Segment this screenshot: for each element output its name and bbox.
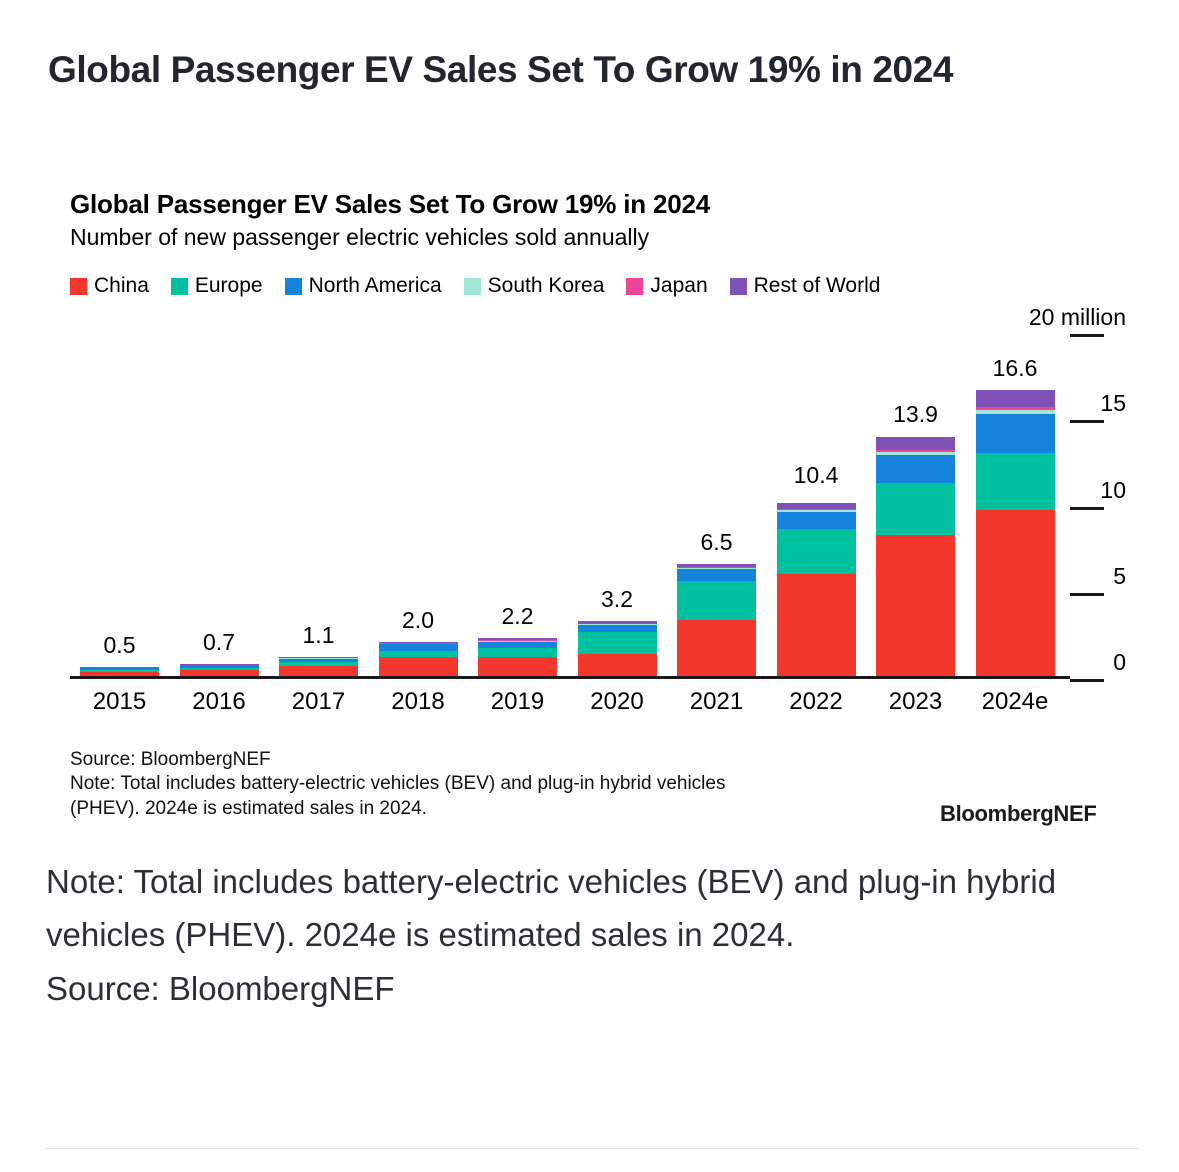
chart-title: Global Passenger EV Sales Set To Grow 19…: [70, 189, 710, 220]
y-tick-mark: [1070, 593, 1104, 596]
y-tick-mark: [1070, 679, 1104, 682]
bar-group[interactable]: 13.9: [876, 396, 955, 676]
y-tick-label: 0: [1068, 649, 1126, 676]
bar-group[interactable]: 2.2: [478, 598, 557, 676]
bar-value-label: 0.7: [203, 629, 235, 656]
y-axis: 05101520 million: [1068, 331, 1178, 682]
x-axis-baseline: [70, 676, 1070, 679]
bar-segment-europe: [777, 529, 856, 574]
stacked-bar[interactable]: [777, 497, 856, 676]
y-tick-label: 20 million: [978, 304, 1126, 331]
legend-item-north-america[interactable]: North America: [285, 274, 442, 298]
bar-segment-europe: [876, 483, 955, 535]
x-axis-label: 2022: [761, 688, 871, 716]
stacked-bar[interactable]: [677, 564, 756, 676]
legend-swatch-icon: [171, 278, 188, 295]
page-title: Global Passenger EV Sales Set To Grow 19…: [48, 48, 1138, 92]
x-axis-label: 2015: [65, 688, 175, 716]
bar-group[interactable]: 0.7: [180, 624, 259, 676]
article-caption: Note: Total includes battery-electric ve…: [46, 855, 1136, 1015]
bar-group[interactable]: 10.4: [777, 457, 856, 676]
legend-item-japan[interactable]: Japan: [626, 274, 707, 298]
legend-label: North America: [309, 274, 442, 298]
stacked-bar[interactable]: [80, 667, 159, 676]
chart-subtitle: Number of new passenger electric vehicle…: [70, 224, 649, 251]
x-axis-label: 2024e: [960, 688, 1070, 716]
x-axis-label: 2020: [562, 688, 672, 716]
y-tick-label: 5: [1068, 563, 1126, 590]
bar-value-label: 13.9: [893, 401, 938, 428]
caption-note: Note: Total includes battery-electric ve…: [46, 855, 1136, 962]
bar-group[interactable]: 0.5: [80, 627, 159, 676]
bar-segment-china: [677, 620, 756, 676]
x-axis-label: 2017: [264, 688, 374, 716]
stacked-bar[interactable]: [976, 390, 1055, 676]
bar-segment-europe: [677, 581, 756, 620]
chart-note-line: Note: Total includes battery-electric ve…: [70, 772, 880, 821]
legend-swatch-icon: [730, 278, 747, 295]
bottom-divider: [46, 1148, 1138, 1149]
x-axis-label: 2018: [363, 688, 473, 716]
bar-segment-rest-of-world: [976, 390, 1055, 407]
bar-segment-china: [478, 657, 557, 676]
stacked-bar[interactable]: [379, 642, 458, 677]
chart-card: Global Passenger EV Sales Set To Grow 19…: [0, 176, 1179, 836]
bar-segment-china: [777, 574, 856, 676]
x-axis: 2015201620172018201920202021202220232024…: [70, 688, 1065, 724]
legend-item-china[interactable]: China: [70, 274, 149, 298]
y-tick-label: 10: [1068, 477, 1126, 504]
legend-swatch-icon: [464, 278, 481, 295]
bar-segment-china: [976, 510, 1055, 676]
bar-segment-rest-of-world: [876, 437, 955, 449]
legend-swatch-icon: [285, 278, 302, 295]
bar-segment-north-america: [677, 569, 756, 581]
x-axis-label: 2016: [164, 688, 274, 716]
bar-value-label: 0.5: [104, 632, 136, 659]
bar-value-label: 16.6: [993, 355, 1038, 382]
chart-source-line: Source: BloombergNEF: [70, 748, 880, 772]
stacked-bar[interactable]: [578, 621, 657, 676]
bar-segment-china: [876, 535, 955, 676]
legend-label: Europe: [195, 274, 263, 298]
bar-value-label: 2.2: [502, 603, 534, 630]
legend-swatch-icon: [70, 278, 87, 295]
x-axis-label: 2019: [463, 688, 573, 716]
bar-value-label: 2.0: [402, 607, 434, 634]
legend-label: Rest of World: [754, 274, 881, 298]
bar-group[interactable]: 6.5: [677, 524, 756, 676]
bloombergnef-logo: BloombergNEF: [940, 801, 1097, 827]
legend-label: Japan: [650, 274, 707, 298]
bar-segment-north-america: [578, 625, 657, 632]
bar-value-label: 1.1: [303, 622, 335, 649]
bar-segment-north-america: [876, 455, 955, 483]
stacked-bar[interactable]: [279, 657, 358, 676]
bar-group[interactable]: 16.6: [976, 350, 1055, 676]
y-tick-mark: [1070, 420, 1104, 423]
bar-segment-north-america: [777, 512, 856, 529]
bar-group[interactable]: 1.1: [279, 617, 358, 676]
bar-segment-china: [279, 666, 358, 676]
legend-swatch-icon: [626, 278, 643, 295]
chart-footnote: Source: BloombergNEF Note: Total include…: [70, 748, 880, 821]
caption-source: Source: BloombergNEF: [46, 962, 1136, 1015]
legend-item-europe[interactable]: Europe: [171, 274, 263, 298]
y-tick-mark: [1070, 334, 1104, 337]
bar-value-label: 3.2: [601, 586, 633, 613]
x-axis-label: 2021: [662, 688, 772, 716]
bar-group[interactable]: 3.2: [578, 581, 657, 676]
bar-segment-europe: [578, 632, 657, 654]
bar-segment-europe: [976, 453, 1055, 510]
stacked-bar[interactable]: [180, 664, 259, 676]
y-tick-label: 15: [1068, 390, 1126, 417]
legend-item-rest-of-world[interactable]: Rest of World: [730, 274, 881, 298]
bar-segment-europe: [478, 648, 557, 657]
y-tick-mark: [1070, 507, 1104, 510]
stacked-bar[interactable]: [876, 436, 955, 676]
bar-segment-north-america: [976, 414, 1055, 454]
chart-legend: ChinaEuropeNorth AmericaSouth KoreaJapan…: [70, 274, 902, 298]
x-axis-label: 2023: [861, 688, 971, 716]
bar-group[interactable]: 2.0: [379, 602, 458, 677]
bar-segment-north-america: [379, 644, 458, 651]
bar-segment-china: [578, 654, 657, 676]
plot-area: 0.50.71.12.02.23.26.510.413.916.6: [70, 331, 1065, 679]
legend-item-south-korea[interactable]: South Korea: [464, 274, 605, 298]
bar-segment-china: [379, 657, 458, 676]
legend-label: China: [94, 274, 149, 298]
stacked-bar[interactable]: [478, 638, 557, 676]
bar-value-label: 6.5: [701, 529, 733, 556]
bar-value-label: 10.4: [794, 462, 839, 489]
legend-label: South Korea: [488, 274, 605, 298]
